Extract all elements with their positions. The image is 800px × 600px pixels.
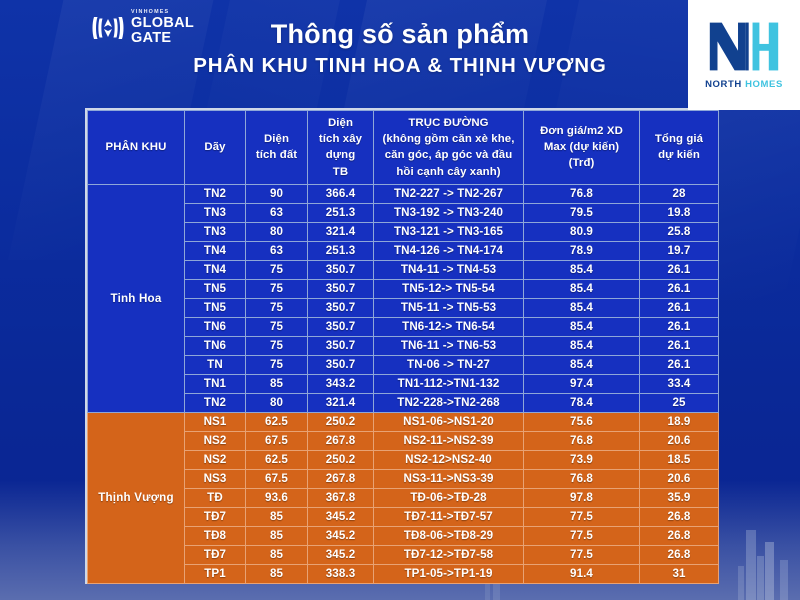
cell-tong-gia: 26.1 — [640, 355, 719, 374]
cell-truc-duong: TĐ7-12->TĐ7-58 — [374, 545, 524, 564]
cell-dien-tich-xay-dung: 350.7 — [308, 317, 374, 336]
cell-tong-gia: 26.1 — [640, 336, 719, 355]
cell-tong-gia: 31 — [640, 564, 719, 583]
skyline-building — [485, 582, 490, 600]
cell-don-gia: 85.4 — [524, 317, 640, 336]
north-homes-word-north: NORTH — [705, 79, 742, 90]
cell-truc-duong: TĐ7-11->TĐ7-57 — [374, 507, 524, 526]
column-header-don-gia: Đơn giá/m2 XD Max (dự kiến) (Trđ) — [524, 111, 640, 185]
cell-day: NS2 — [185, 450, 246, 469]
north-homes-wordmark: NORTH HOMES — [705, 79, 783, 90]
cell-dien-tich-xay-dung: 267.8 — [308, 469, 374, 488]
cell-tong-gia: 26.8 — [640, 545, 719, 564]
cell-day: TN5 — [185, 298, 246, 317]
cell-dien-tich-dat: 85 — [246, 564, 308, 583]
cell-day: NS3 — [185, 469, 246, 488]
cell-day: TN6 — [185, 317, 246, 336]
cell-day: TN4 — [185, 260, 246, 279]
cell-dien-tich-dat: 80 — [246, 393, 308, 412]
cell-truc-duong: TN4-126 -> TN4-174 — [374, 241, 524, 260]
cell-truc-duong: TN-06 -> TN-27 — [374, 355, 524, 374]
cell-tong-gia: 25 — [640, 393, 719, 412]
cell-dien-tich-dat: 75 — [246, 355, 308, 374]
cell-tong-gia: 26.1 — [640, 279, 719, 298]
cell-dien-tich-xay-dung: 350.7 — [308, 298, 374, 317]
cell-dien-tich-dat: 62.5 — [246, 412, 308, 431]
cell-tong-gia: 26.1 — [640, 317, 719, 336]
table-header: PHÂN KHU Dãy Diện tích đất Diện tích xây… — [88, 111, 719, 185]
cell-don-gia: 77.5 — [524, 545, 640, 564]
cell-dien-tich-xay-dung: 250.2 — [308, 450, 374, 469]
vinhomes-global-gate-wordmark: VINHOMES GLOBAL GATE — [131, 10, 194, 45]
cell-day: TN6 — [185, 336, 246, 355]
cell-don-gia: 73.9 — [524, 450, 640, 469]
cell-dien-tich-dat: 90 — [246, 184, 308, 203]
product-specs-table-container: PHÂN KHU Dãy Diện tích đất Diện tích xây… — [85, 108, 716, 584]
cell-day: NS1 — [185, 412, 246, 431]
cell-tong-gia: 25.8 — [640, 222, 719, 241]
cell-dien-tich-dat: 67.5 — [246, 469, 308, 488]
cell-tong-gia: 18.5 — [640, 450, 719, 469]
cell-truc-duong: TN3-192 -> TN3-240 — [374, 203, 524, 222]
cell-tong-gia: 26.8 — [640, 526, 719, 545]
cell-dien-tich-dat: 63 — [246, 203, 308, 222]
cell-don-gia: 78.4 — [524, 393, 640, 412]
cell-don-gia: 76.8 — [524, 184, 640, 203]
cell-dien-tich-xay-dung: 321.4 — [308, 222, 374, 241]
cell-tong-gia: 20.6 — [640, 431, 719, 450]
cell-truc-duong: TN2-228->TN2-268 — [374, 393, 524, 412]
skyline-building — [738, 566, 744, 600]
cell-dien-tich-xay-dung: 251.3 — [308, 241, 374, 260]
column-header-dien-tich-xay-dung: Diện tích xây dựng TB — [308, 111, 374, 185]
table-row: Tinh HoaTN290366.4TN2-227 -> TN2-26776.8… — [88, 184, 719, 203]
cell-day: TN3 — [185, 203, 246, 222]
cell-dien-tich-dat: 85 — [246, 507, 308, 526]
cell-tong-gia: 35.9 — [640, 488, 719, 507]
cell-don-gia: 76.8 — [524, 469, 640, 488]
zone-label-cell: Thịnh Vượng — [88, 412, 185, 583]
cell-dien-tich-xay-dung: 321.4 — [308, 393, 374, 412]
cell-dien-tich-dat: 85 — [246, 526, 308, 545]
cell-dien-tich-xay-dung: 345.2 — [308, 507, 374, 526]
cell-tong-gia: 20.6 — [640, 469, 719, 488]
column-header-truc-duong: TRỤC ĐƯỜNG (không gồm căn xè khe, căn gó… — [374, 111, 524, 185]
cell-don-gia: 91.4 — [524, 564, 640, 583]
cell-truc-duong: NS2-11->NS2-39 — [374, 431, 524, 450]
cell-don-gia: 75.6 — [524, 412, 640, 431]
cell-tong-gia: 33.4 — [640, 374, 719, 393]
cell-day: TĐ7 — [185, 545, 246, 564]
cell-truc-duong: TN2-227 -> TN2-267 — [374, 184, 524, 203]
cell-dien-tich-dat: 63 — [246, 241, 308, 260]
cell-day: TP1 — [185, 564, 246, 583]
cell-don-gia: 97.8 — [524, 488, 640, 507]
column-header-phan-khu: PHÂN KHU — [88, 111, 185, 185]
column-header-dien-tich-dat: Diện tích đất — [246, 111, 308, 185]
cell-day: TN — [185, 355, 246, 374]
cell-don-gia: 85.4 — [524, 336, 640, 355]
cell-truc-duong: NS3-11->NS3-39 — [374, 469, 524, 488]
cell-day: TN2 — [185, 184, 246, 203]
cell-dien-tich-dat: 75 — [246, 336, 308, 355]
north-homes-word-homes: HOMES — [745, 79, 783, 90]
cell-dien-tich-dat: 75 — [246, 298, 308, 317]
north-homes-logo: NORTH HOMES — [688, 0, 800, 110]
cell-truc-duong: TN5-11 -> TN5-53 — [374, 298, 524, 317]
cell-day: TN4 — [185, 241, 246, 260]
logo-left-line-gate: GATE — [131, 31, 194, 46]
cell-dien-tich-dat: 62.5 — [246, 450, 308, 469]
skyline-building — [780, 560, 788, 600]
cell-dien-tich-dat: 93.6 — [246, 488, 308, 507]
cell-dien-tich-xay-dung: 350.7 — [308, 355, 374, 374]
zone-label-cell: Tinh Hoa — [88, 184, 185, 412]
cell-truc-duong: TN4-11 -> TN4-53 — [374, 260, 524, 279]
cell-tong-gia: 19.8 — [640, 203, 719, 222]
table-body: Tinh HoaTN290366.4TN2-227 -> TN2-26776.8… — [88, 184, 719, 583]
cell-tong-gia: 18.9 — [640, 412, 719, 431]
cell-truc-duong: TĐ8-06->TĐ8-29 — [374, 526, 524, 545]
cell-day: TN5 — [185, 279, 246, 298]
nh-monogram-icon — [707, 20, 781, 73]
cell-truc-duong: NS2-12>NS2-40 — [374, 450, 524, 469]
cell-don-gia: 76.8 — [524, 431, 640, 450]
cell-day: TN1 — [185, 374, 246, 393]
cell-tong-gia: 26.1 — [640, 260, 719, 279]
cell-don-gia: 85.4 — [524, 355, 640, 374]
cell-dien-tich-xay-dung: 251.3 — [308, 203, 374, 222]
cell-dien-tich-xay-dung: 250.2 — [308, 412, 374, 431]
cell-don-gia: 85.4 — [524, 279, 640, 298]
cell-dien-tich-dat: 75 — [246, 317, 308, 336]
cell-dien-tich-dat: 85 — [246, 374, 308, 393]
cell-truc-duong: TN6-12-> TN6-54 — [374, 317, 524, 336]
logo-left-line-small: VINHOMES — [131, 10, 194, 15]
cell-dien-tich-xay-dung: 338.3 — [308, 564, 374, 583]
cell-don-gia: 85.4 — [524, 298, 640, 317]
cell-day: TĐ8 — [185, 526, 246, 545]
cell-dien-tich-xay-dung: 350.7 — [308, 279, 374, 298]
cell-truc-duong: TP1-05->TP1-19 — [374, 564, 524, 583]
cell-don-gia: 77.5 — [524, 526, 640, 545]
cell-don-gia: 77.5 — [524, 507, 640, 526]
cell-truc-duong: TN1-112->TN1-132 — [374, 374, 524, 393]
cell-dien-tich-xay-dung: 366.4 — [308, 184, 374, 203]
cell-day: TĐ — [185, 488, 246, 507]
cell-don-gia: 85.4 — [524, 260, 640, 279]
table-header-row: PHÂN KHU Dãy Diện tích đất Diện tích xây… — [88, 111, 719, 185]
vinhomes-global-gate-logo: VINHOMES GLOBAL GATE — [92, 10, 194, 45]
cell-truc-duong: TN5-12-> TN5-54 — [374, 279, 524, 298]
cell-day: TN2 — [185, 393, 246, 412]
cell-truc-duong: TN6-11 -> TN6-53 — [374, 336, 524, 355]
cell-dien-tich-xay-dung: 350.7 — [308, 260, 374, 279]
cell-truc-duong: TN3-121 -> TN3-165 — [374, 222, 524, 241]
table-row: Thịnh VượngNS162.5250.2NS1-06->NS1-2075.… — [88, 412, 719, 431]
cell-tong-gia: 26.8 — [640, 507, 719, 526]
cell-dien-tich-dat: 67.5 — [246, 431, 308, 450]
cell-tong-gia: 28 — [640, 184, 719, 203]
cell-don-gia: 78.9 — [524, 241, 640, 260]
cell-truc-duong: TĐ-06->TĐ-28 — [374, 488, 524, 507]
cell-dien-tich-dat: 75 — [246, 279, 308, 298]
skyline-building — [746, 530, 756, 600]
cell-dien-tich-dat: 85 — [246, 545, 308, 564]
skyline-building — [757, 556, 764, 600]
cell-dien-tich-dat: 75 — [246, 260, 308, 279]
cell-dien-tich-xay-dung: 367.8 — [308, 488, 374, 507]
logo-left-line-global: GLOBAL — [131, 16, 194, 31]
cell-dien-tich-xay-dung: 350.7 — [308, 336, 374, 355]
column-header-day: Dãy — [185, 111, 246, 185]
cell-dien-tich-xay-dung: 345.2 — [308, 526, 374, 545]
cell-dien-tich-xay-dung: 267.8 — [308, 431, 374, 450]
cell-day: NS2 — [185, 431, 246, 450]
cell-tong-gia: 19.7 — [640, 241, 719, 260]
cell-tong-gia: 26.1 — [640, 298, 719, 317]
cell-don-gia: 97.4 — [524, 374, 640, 393]
cell-dien-tich-dat: 80 — [246, 222, 308, 241]
product-specs-table: PHÂN KHU Dãy Diện tích đất Diện tích xây… — [87, 110, 719, 584]
cell-don-gia: 79.5 — [524, 203, 640, 222]
cell-dien-tich-xay-dung: 343.2 — [308, 374, 374, 393]
cell-day: TN3 — [185, 222, 246, 241]
skyline-building — [765, 542, 774, 600]
cell-truc-duong: NS1-06->NS1-20 — [374, 412, 524, 431]
column-header-tong-gia: Tổng giá dự kiến — [640, 111, 719, 185]
cell-don-gia: 80.9 — [524, 222, 640, 241]
vinhomes-global-gate-mark-icon — [92, 15, 124, 41]
cell-day: TĐ7 — [185, 507, 246, 526]
cell-dien-tich-xay-dung: 345.2 — [308, 545, 374, 564]
